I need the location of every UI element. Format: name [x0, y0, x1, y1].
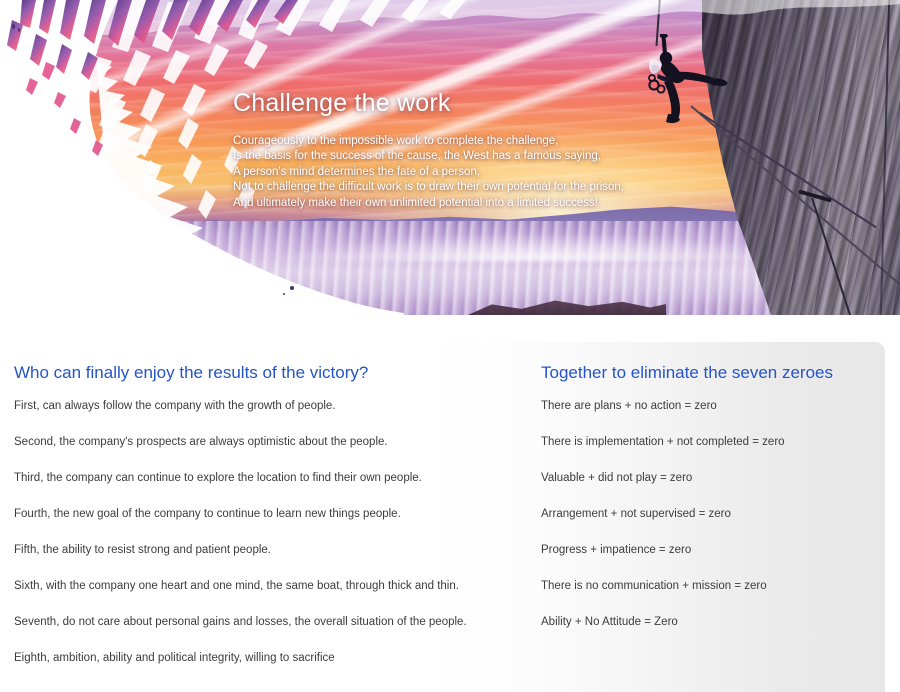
splash-fleck-dark	[12, 24, 15, 29]
list-item: Eighth, ambition, ability and political …	[14, 651, 467, 687]
splash-fleck	[272, 292, 274, 294]
hero-line: A person's mind determines the fate of a…	[233, 165, 663, 181]
left-column-list: First, can always follow the company wit…	[14, 399, 467, 687]
left-column-heading: Who can finally enjoy the results of the…	[14, 363, 368, 383]
hero-line: Not to challenge the difficult work is t…	[233, 180, 663, 196]
hero-copy: Challenge the work Courageously to the i…	[233, 90, 663, 211]
list-item: Fifth, the ability to resist strong and …	[14, 543, 467, 579]
two-column-layout: Who can finally enjoy the results of the…	[0, 315, 900, 692]
cloud-crest-highlight	[270, 233, 810, 261]
hero-line: Is the basis for the success of the caus…	[233, 149, 663, 165]
list-item: Third, the company can continue to explo…	[14, 471, 467, 507]
list-item: Ability + No Attitude = Zero	[541, 615, 785, 651]
list-item: Sixth, with the company one heart and on…	[14, 579, 467, 615]
splash-fleck-dark	[290, 286, 294, 290]
list-item: Second, the company's prospects are alwa…	[14, 435, 467, 471]
list-item: First, can always follow the company wit…	[14, 399, 467, 435]
hero-title: Challenge the work	[233, 90, 663, 118]
hero-line: And ultimately make their own unlimited …	[233, 196, 663, 212]
list-item: Arrangement + not supervised = zero	[541, 507, 785, 543]
list-item: Fourth, the new goal of the company to c…	[14, 507, 467, 543]
list-item: There is implementation + not completed …	[541, 435, 785, 471]
hero-banner: Challenge the work Courageously to the i…	[0, 0, 900, 315]
hero-line: Courageously to the impossible work to c…	[233, 134, 663, 150]
hero-subtitle-lines: Courageously to the impossible work to c…	[233, 134, 663, 212]
list-item: Valuable + did not play = zero	[541, 471, 785, 507]
list-item: There are plans + no action = zero	[541, 399, 785, 435]
splash-fleck-dark	[283, 293, 285, 295]
right-column-list: There are plans + no action = zero There…	[541, 399, 785, 651]
splash-fleck-dark	[18, 28, 20, 32]
list-item: Progress + impatience = zero	[541, 543, 785, 579]
right-column-heading: Together to eliminate the seven zeroes	[541, 363, 833, 383]
splash-fleck	[262, 288, 265, 290]
list-item: Seventh, do not care about personal gain…	[14, 615, 467, 651]
content-section: Who can finally enjoy the results of the…	[0, 315, 900, 692]
list-item: There is no communication + mission = ze…	[541, 579, 785, 615]
